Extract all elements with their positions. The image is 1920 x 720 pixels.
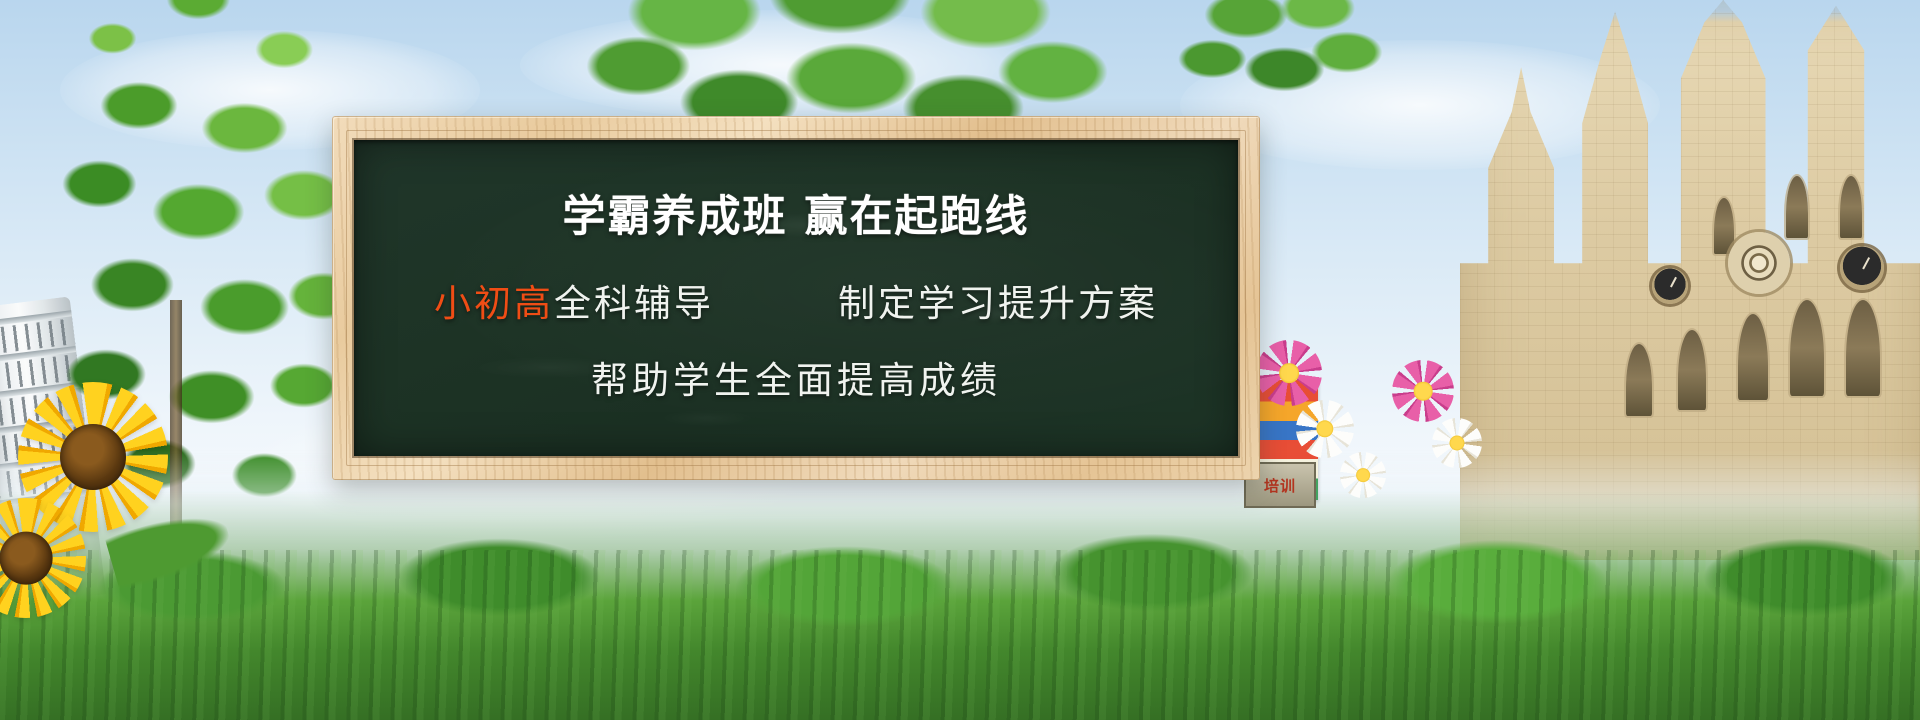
grade-levels-highlight: 小初高 bbox=[434, 282, 554, 325]
flower-center bbox=[1279, 363, 1299, 383]
rose-window-icon bbox=[1728, 232, 1790, 294]
headline-title: 学霸养成班 赢在起跑线 bbox=[563, 196, 1030, 239]
arched-window-icon bbox=[1786, 176, 1808, 238]
flower-center bbox=[1450, 436, 1465, 451]
flower-center bbox=[1356, 468, 1370, 482]
blackboard-surface: 学霸养成班 赢在起跑线 小初高全科辅导 制定学习提升方案 帮助学生全面提高成绩 bbox=[354, 140, 1238, 456]
sunflower-center bbox=[60, 424, 126, 490]
all-subjects-tutoring-label: 全科辅导 bbox=[554, 282, 714, 325]
study-plan-label: 制定学习提升方案 bbox=[838, 285, 1158, 322]
improve-grades-label: 帮助学生全面提高成绩 bbox=[591, 362, 1001, 399]
promo-banner: 培训 学霸养成班 赢在起跑线 小初高全科辅导 制定学习提升方案 bbox=[0, 0, 1920, 720]
cosmos-flower-icon bbox=[1392, 360, 1454, 422]
cosmos-flower-icon bbox=[1432, 418, 1482, 468]
sunflower-icon bbox=[0, 498, 86, 618]
feature-row-primary: 小初高全科辅导 制定学习提升方案 bbox=[354, 285, 1238, 322]
feature-item-subjects: 小初高全科辅导 bbox=[434, 285, 714, 322]
hedge-grass bbox=[0, 490, 1920, 720]
clock-icon bbox=[1652, 268, 1688, 304]
cosmos-flower-icon bbox=[1296, 400, 1354, 458]
cosmos-flower-icon bbox=[1340, 452, 1386, 498]
blackboard-wooden-frame: 学霸养成班 赢在起跑线 小初高全科辅导 制定学习提升方案 帮助学生全面提高成绩 bbox=[332, 116, 1260, 480]
hedge-rows-texture bbox=[0, 550, 1920, 720]
flower-center bbox=[1414, 382, 1433, 401]
clock-icon bbox=[1840, 246, 1884, 290]
sunflower-center bbox=[0, 532, 52, 585]
cosmos-flower-icon bbox=[1256, 340, 1322, 406]
